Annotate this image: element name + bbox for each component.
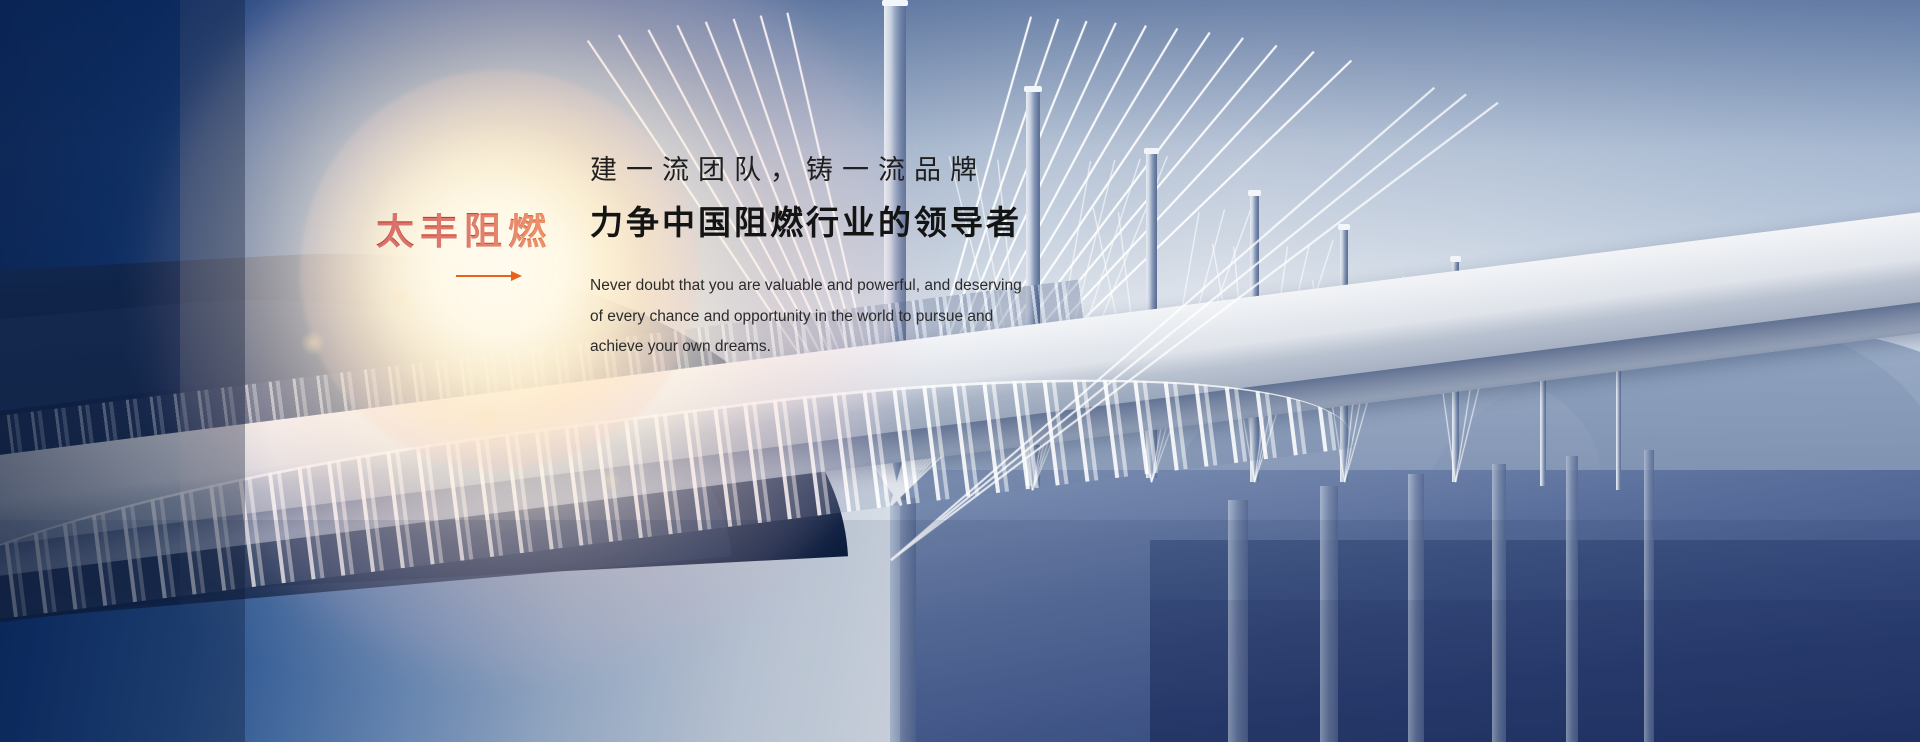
headline-title: 力争中国阻燃行业的领导者 (590, 202, 1230, 245)
arrow-shaft (456, 275, 514, 277)
hero-description-line-3: achieve your own dreams. (590, 332, 1060, 362)
lens-flare-4 (600, 470, 620, 490)
overlay-band-lower-right (1150, 600, 1920, 742)
lens-flare-2 (392, 290, 408, 306)
hero-description-line-2: of every chance and opportunity in the w… (590, 302, 1060, 332)
hero-banner: 太丰阻燃 建一流团队，铸一流品牌 力争中国阻燃行业的领导者 Never doub… (0, 0, 1920, 742)
hero-description: Never doubt that you are valuable and po… (590, 271, 1060, 362)
headline-subtitle: 建一流团队，铸一流品牌 (590, 152, 1230, 188)
lens-flare-1 (300, 330, 326, 356)
arrow-right-icon (456, 271, 522, 281)
brand-logo-text: 太丰阻燃 (376, 213, 546, 251)
lens-flare-3 (470, 402, 504, 436)
brand-logo[interactable]: 太丰阻燃 (376, 213, 546, 281)
hero-copy: 建一流团队，铸一流品牌 力争中国阻燃行业的领导者 Never doubt tha… (590, 152, 1230, 362)
hero-description-line-1: Never doubt that you are valuable and po… (590, 271, 1060, 301)
arrow-head (511, 271, 522, 281)
